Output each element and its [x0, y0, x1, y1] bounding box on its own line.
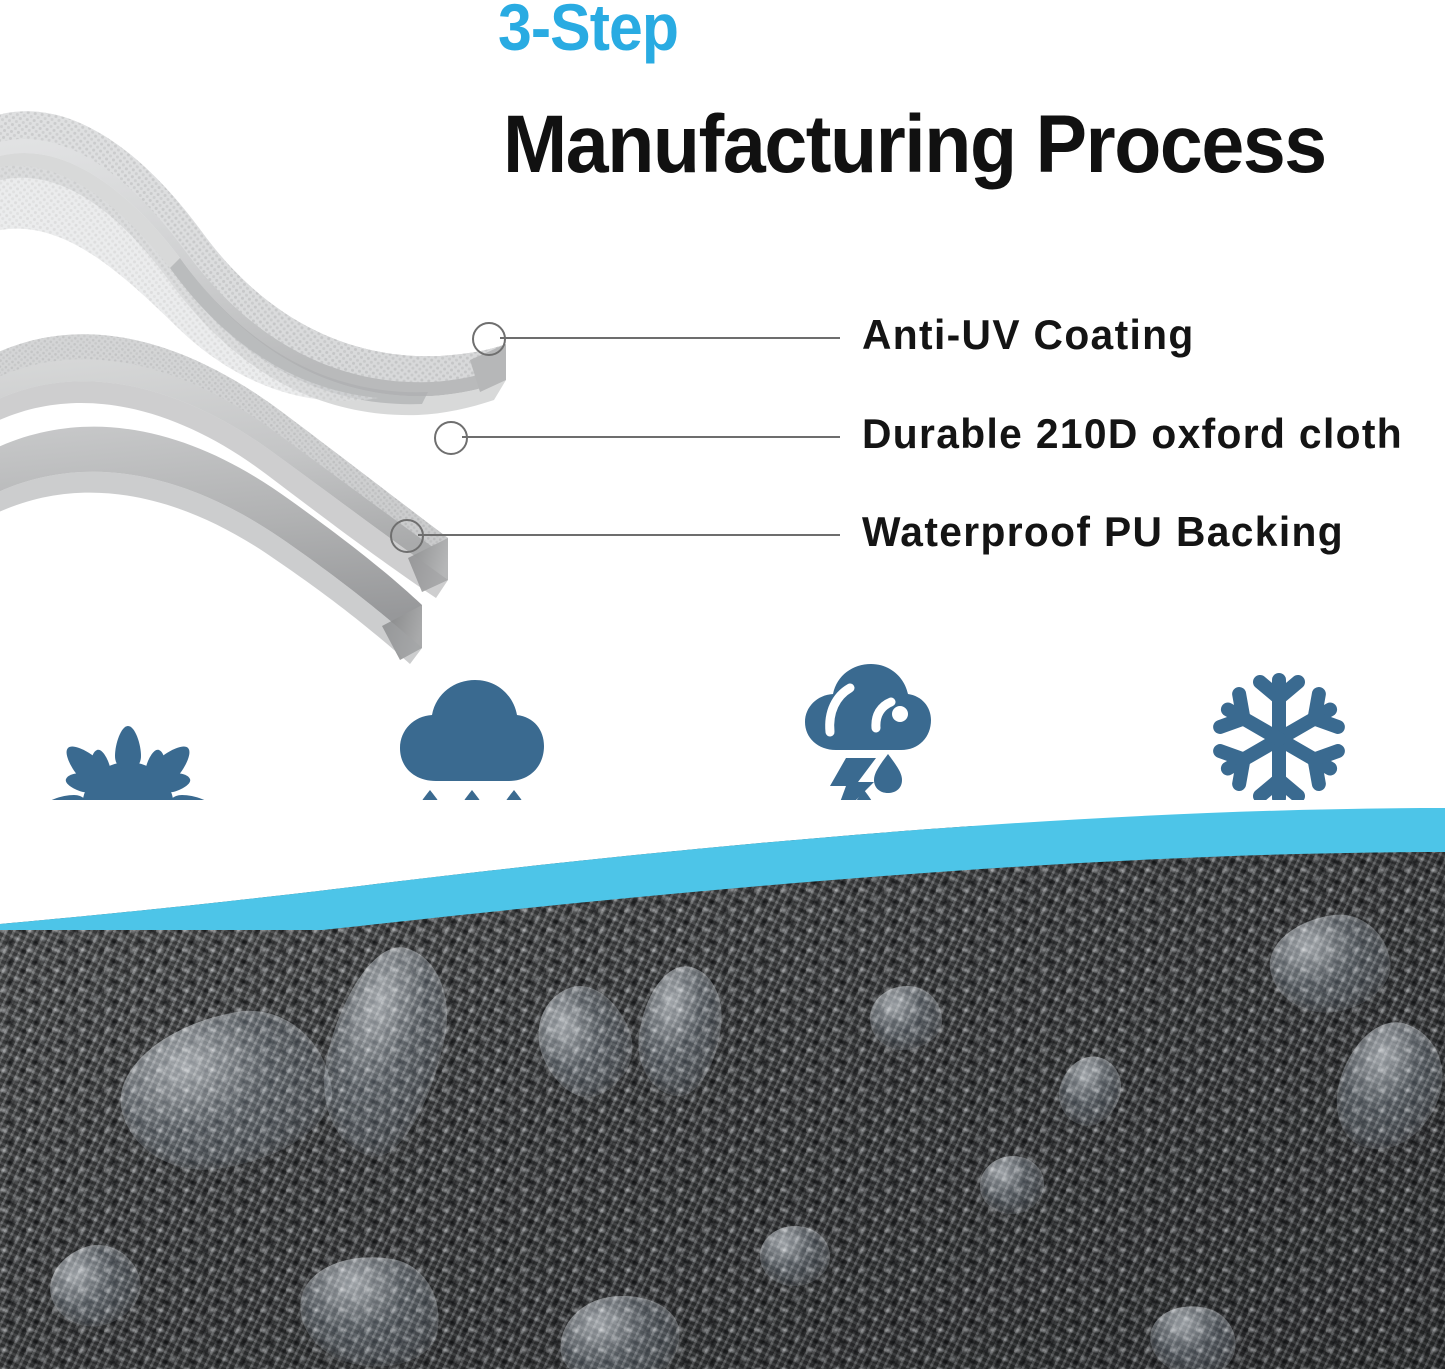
page-title: Manufacturing Process — [503, 104, 1326, 186]
waterproof-fabric-photo — [0, 826, 1445, 1369]
eyebrow-heading: 3-Step — [498, 0, 678, 60]
water-droplet — [980, 1156, 1044, 1214]
water-droplet — [870, 986, 942, 1050]
leader-marker-pu — [390, 519, 424, 553]
water-droplet — [760, 1226, 830, 1286]
callout-label-anti-uv: Anti-UV Coating — [862, 311, 1195, 359]
layer-pu-backing — [0, 427, 422, 664]
callout-label-pu: Waterproof PU Backing — [862, 508, 1344, 556]
leader-line-pu — [418, 534, 840, 536]
snowflake-icon — [1206, 666, 1352, 812]
leader-line-anti-uv — [500, 337, 840, 339]
callout-label-oxford: Durable 210D oxford cloth — [862, 410, 1403, 458]
storm-cloud-icon — [802, 662, 934, 814]
leader-marker-anti-uv — [472, 322, 506, 356]
leader-marker-oxford — [434, 421, 468, 455]
leader-line-oxford — [462, 436, 840, 438]
material-layers-illustration — [0, 60, 550, 680]
rain-cloud-icon — [396, 678, 546, 824]
infographic-canvas: 3-Step Manufacturing Process — [0, 0, 1445, 1369]
